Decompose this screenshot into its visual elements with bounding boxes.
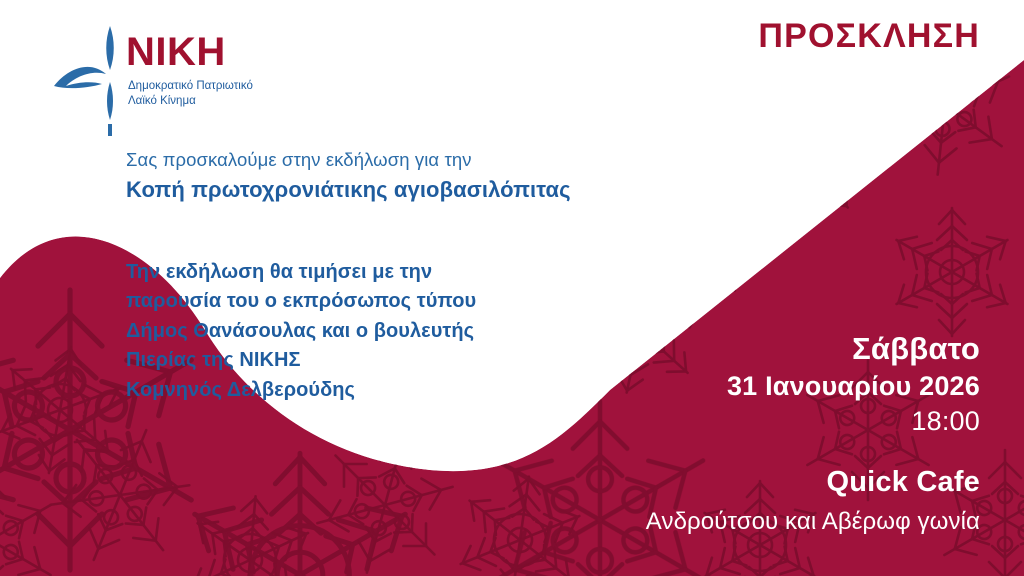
guest-speakers-block: Την εκδήλωση θα τιμήσει με την παρουσία … xyxy=(126,258,596,405)
event-day: Σάββατο xyxy=(560,330,980,368)
event-address: Ανδρούτσου και Αβέρωφ γωνία xyxy=(560,507,980,537)
logo-tagline: Δημοκρατικό Πατριωτικό Λαϊκό Κίνημα xyxy=(128,79,306,109)
invitation-intro-line: Σας προσκαλούμε στην εκδήλωση για την xyxy=(126,148,686,173)
event-venue: Quick Cafe xyxy=(560,465,980,501)
logo-wordmark: ΝΙΚΗ xyxy=(126,32,306,72)
page-title: ΠΡΟΣΚΛΗΣΗ xyxy=(758,18,980,55)
invitation-body: Σας προσκαλούμε στην εκδήλωση για την Κο… xyxy=(126,148,686,205)
guest-line: παρουσία του ο εκπρόσωπος τύπου xyxy=(126,287,596,316)
logo-text-block: ΝΙΚΗ Δημοκρατικό Πατριωτικό Λαϊκό Κίνημα xyxy=(126,32,306,109)
guest-line: Την εκδήλωση θα τιμήσει με την xyxy=(126,258,596,287)
nikh-logo: ΝΙΚΗ Δημοκρατικό Πατριωτικό Λαϊκό Κίνημα xyxy=(52,24,302,136)
event-details-block: Σάββατο 31 Ιανουαρίου 2026 18:00 Quick C… xyxy=(560,330,980,537)
nikh-swoosh-mark-icon xyxy=(52,24,134,136)
event-name: Κοπή πρωτοχρονιάτικης αγιοβασιλόπιτας xyxy=(126,176,686,205)
invitation-poster: ΝΙΚΗ Δημοκρατικό Πατριωτικό Λαϊκό Κίνημα… xyxy=(0,0,1024,576)
guest-line: Δήμος Θανάσουλας και ο βουλευτής xyxy=(126,317,596,346)
event-time: 18:00 xyxy=(560,405,980,438)
guest-line: Πιερίας της ΝΙΚΗΣ xyxy=(126,346,596,375)
event-date: 31 Ιανουαρίου 2026 xyxy=(560,370,980,403)
guest-line: Κομνηνός Δελβερούδης xyxy=(126,376,596,405)
